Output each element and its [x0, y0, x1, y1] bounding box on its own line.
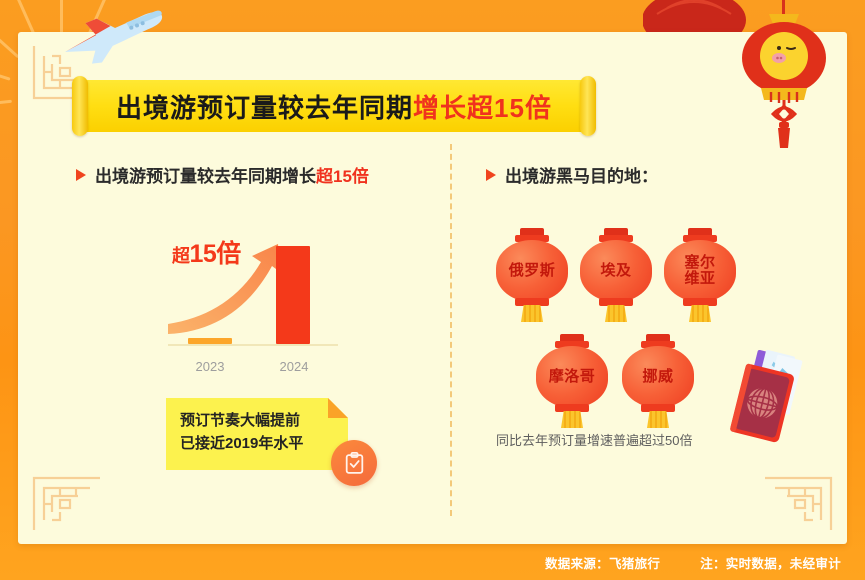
destination-lantern: 埃及 — [580, 228, 652, 324]
growth-annotation: 超15倍 — [172, 234, 241, 270]
left-section-heading: 出境游预订量较去年同期增长超15倍 — [76, 162, 369, 187]
chart-bar-2024 — [276, 246, 310, 344]
lantern-body: 摩洛哥 — [536, 346, 608, 408]
bullet-triangle-icon — [76, 169, 86, 181]
lantern-tassel — [561, 411, 583, 428]
destination-label-line-2: 维亚 — [684, 270, 715, 287]
destination-label: 埃及 — [600, 263, 631, 279]
destination-lantern: 塞尔维亚 — [664, 228, 736, 324]
lantern-base — [641, 404, 675, 412]
destination-lantern: 俄罗斯 — [496, 228, 568, 324]
lantern-body: 俄罗斯 — [496, 240, 568, 302]
destination-label: 俄罗斯 — [509, 263, 556, 279]
title-text: 出境游预订量较去年同期增长超15倍 — [84, 80, 584, 132]
lantern-pig-mascot-icon — [723, 0, 845, 156]
growth-bar-chart: 超15倍 2023 2024 — [168, 228, 338, 378]
destination-lantern: 挪威 — [622, 334, 694, 430]
callout-text: 预订节奏大幅提前 已接近2019年水平 — [180, 409, 336, 456]
bullet-triangle-icon — [486, 169, 496, 181]
lantern-base — [599, 298, 633, 306]
lantern-tassel — [521, 305, 543, 322]
chart-xlabel-2023: 2023 — [176, 359, 244, 374]
chinese-fret-corner-icon — [761, 472, 835, 534]
footer-source: 数据来源：飞猪旅行 — [545, 553, 660, 572]
lantern-tassel — [605, 305, 627, 322]
growth-value: 15倍 — [190, 240, 241, 268]
lantern-body: 挪威 — [622, 346, 694, 408]
section-divider — [450, 144, 452, 516]
footer-disclaimer: 注：实时数据，未经审计 — [700, 553, 841, 572]
growth-prefix: 超 — [172, 246, 190, 266]
lantern-base — [683, 298, 717, 306]
lantern-body: 埃及 — [580, 240, 652, 302]
callout-line-1: 预订节奏大幅提前 — [180, 409, 336, 432]
lantern-tassel — [689, 305, 711, 322]
chinese-fret-corner-icon — [30, 472, 104, 534]
destination-label: 挪威 — [642, 369, 673, 385]
lantern-tassel — [647, 411, 669, 428]
infographic-root: 出境游预订量较去年同期增长超15倍 超15倍 — [0, 0, 865, 580]
clipboard-check-icon — [331, 440, 377, 486]
destination-lantern: 摩洛哥 — [536, 334, 608, 430]
lantern-body: 塞尔维亚 — [664, 240, 736, 302]
right-section-heading: 出境游黑马目的地： — [486, 162, 658, 187]
passport-ticket-icon — [704, 344, 820, 456]
title-text-plain: 出境游预订量较去年同期 — [116, 88, 413, 125]
title-text-highlight: 增长超15倍 — [413, 88, 552, 125]
destination-label: 塞尔维亚 — [684, 255, 715, 287]
right-heading-text: 出境游黑马目的地： — [505, 162, 658, 187]
chart-bar-2023 — [188, 338, 232, 344]
chart-xlabel-2024: 2024 — [260, 359, 328, 374]
callout-line-2: 已接近2019年水平 — [180, 432, 336, 455]
left-heading-text: 出境游预订量较去年同期增长超15倍 — [95, 162, 369, 187]
title-banner: 出境游预订量较去年同期增长超15倍 — [72, 76, 596, 136]
destination-label: 摩洛哥 — [549, 369, 596, 385]
lantern-base — [555, 404, 589, 412]
callout-box: 预订节奏大幅提前 已接近2019年水平 — [166, 398, 348, 470]
footer-bar: 数据来源：飞猪旅行 注：实时数据，未经审计 — [0, 544, 865, 580]
destination-label-line-1: 塞尔 — [684, 254, 715, 271]
lantern-base — [515, 298, 549, 306]
left-heading-plain: 出境游预订量较去年同期增长 — [95, 167, 316, 186]
left-heading-highlight: 超15倍 — [316, 167, 369, 186]
destination-note: 同比去年预订量增速普遍超过50倍 — [496, 430, 726, 449]
chart-baseline — [168, 344, 338, 346]
